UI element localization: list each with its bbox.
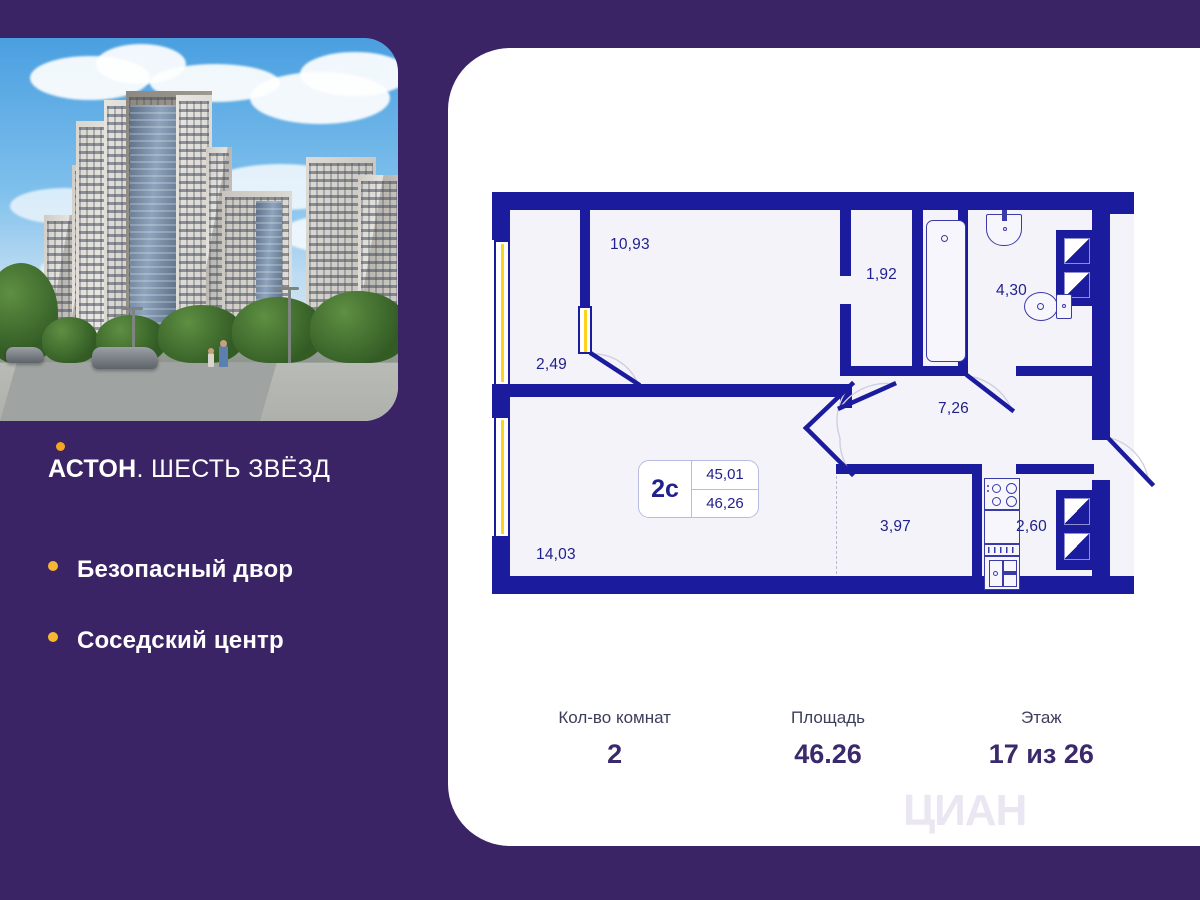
door-opening-bedroom bbox=[578, 306, 592, 354]
stat-floor: Этаж 17 из 26 bbox=[935, 708, 1148, 770]
window-lower bbox=[494, 416, 510, 538]
partition-kitchen-vert bbox=[972, 464, 982, 576]
partition-closet-left bbox=[840, 210, 851, 276]
area-label-living: 14,03 bbox=[536, 546, 576, 564]
partition-kitchen-right bbox=[1016, 464, 1094, 474]
partition-closet-right bbox=[912, 210, 923, 376]
wall-left-bottom bbox=[492, 536, 510, 594]
area-label-kitchen: 3,97 bbox=[880, 518, 911, 536]
toilet-icon bbox=[1024, 292, 1058, 321]
toilet-cistern-icon bbox=[1056, 294, 1072, 319]
wall-left-mid bbox=[492, 384, 510, 418]
feature-label: Безопасный двор bbox=[77, 556, 293, 584]
area-label-bedroom: 10,93 bbox=[610, 236, 650, 254]
brand-dot-icon bbox=[56, 442, 65, 451]
partition-closet-bottom bbox=[840, 366, 923, 376]
washbasin-icon bbox=[986, 214, 1022, 246]
stat-label: Этаж bbox=[935, 708, 1148, 728]
partition-bedroom-vert bbox=[580, 210, 590, 306]
area-label-loggia-upper: 2,49 bbox=[536, 356, 567, 374]
drying-rack-icon bbox=[984, 544, 1020, 556]
area-label-loggia-lower: 2,60 bbox=[1016, 518, 1047, 536]
stat-value: 17 из 26 bbox=[935, 739, 1148, 770]
left-panel: АСТОН. ШЕСТЬ ЗВЁЗД Безопасный двор Сосед… bbox=[0, 0, 440, 900]
kitchen-sink-icon bbox=[984, 556, 1020, 590]
car bbox=[92, 347, 158, 369]
badge-total-area: 46,26 bbox=[692, 490, 758, 518]
road bbox=[0, 363, 277, 421]
brand-name: АСТОН bbox=[48, 455, 137, 483]
watermark: ЦИАН bbox=[903, 786, 1026, 836]
kitchen-divider-dashed bbox=[836, 476, 837, 574]
stat-label: Кол-во комнат bbox=[508, 708, 721, 728]
area-label-hallway: 7,26 bbox=[938, 400, 969, 418]
partition-living-top bbox=[510, 384, 850, 397]
ventilation-shaft-4 bbox=[1064, 533, 1090, 560]
bathtub-icon bbox=[926, 220, 966, 362]
apartment-stats: Кол-во комнат 2 Площадь 46.26 Этаж 17 из… bbox=[508, 708, 1148, 770]
ventilation-shaft-1 bbox=[1064, 238, 1090, 264]
bullet-dot-icon bbox=[48, 632, 58, 642]
badge-living-area: 45,01 bbox=[692, 461, 758, 490]
building-photo bbox=[0, 38, 398, 421]
bullet-dot-icon bbox=[48, 561, 58, 571]
brand-logo: АСТОН. ШЕСТЬ ЗВЁЗД bbox=[48, 455, 330, 484]
area-label-closet: 1,92 bbox=[866, 266, 897, 284]
apartment-card: 10,93 2,49 14,03 1,92 4,30 7,26 3,97 2,6… bbox=[448, 48, 1200, 846]
stat-value: 2 bbox=[508, 739, 721, 770]
floor-plan[interactable]: 10,93 2,49 14,03 1,92 4,30 7,26 3,97 2,6… bbox=[488, 188, 1143, 603]
car-parked bbox=[6, 347, 44, 363]
stat-room-count: Кол-во комнат 2 bbox=[508, 708, 721, 770]
feature-item: Безопасный двор bbox=[48, 556, 293, 584]
partition-hall-left bbox=[840, 384, 852, 408]
feature-label: Соседский центр bbox=[77, 627, 284, 655]
partition-hall-bottom bbox=[836, 464, 972, 474]
stat-label: Площадь bbox=[721, 708, 934, 728]
partition-bath-bottom bbox=[923, 366, 968, 376]
wall-left-top bbox=[492, 192, 510, 240]
feature-item: Соседский центр bbox=[48, 627, 284, 655]
window-upper bbox=[494, 240, 510, 386]
wall-bottom bbox=[492, 576, 1134, 594]
kitchen-counter-icon bbox=[984, 510, 1020, 544]
brand-subtitle: . ШЕСТЬ ЗВЁЗД bbox=[137, 455, 331, 483]
partition-bath-bottom2 bbox=[1016, 366, 1094, 376]
apartment-type-badge: 2с 45,01 46,26 bbox=[638, 460, 759, 518]
ventilation-shaft-3 bbox=[1064, 498, 1090, 525]
stat-value: 46.26 bbox=[721, 739, 934, 770]
area-label-bathroom: 4,30 bbox=[996, 282, 1027, 300]
kitchen-stove-icon bbox=[984, 478, 1020, 510]
badge-room-count: 2с bbox=[639, 461, 691, 517]
wall-top bbox=[492, 192, 1134, 210]
stat-area: Площадь 46.26 bbox=[721, 708, 934, 770]
badge-areas: 45,01 46,26 bbox=[691, 461, 758, 517]
